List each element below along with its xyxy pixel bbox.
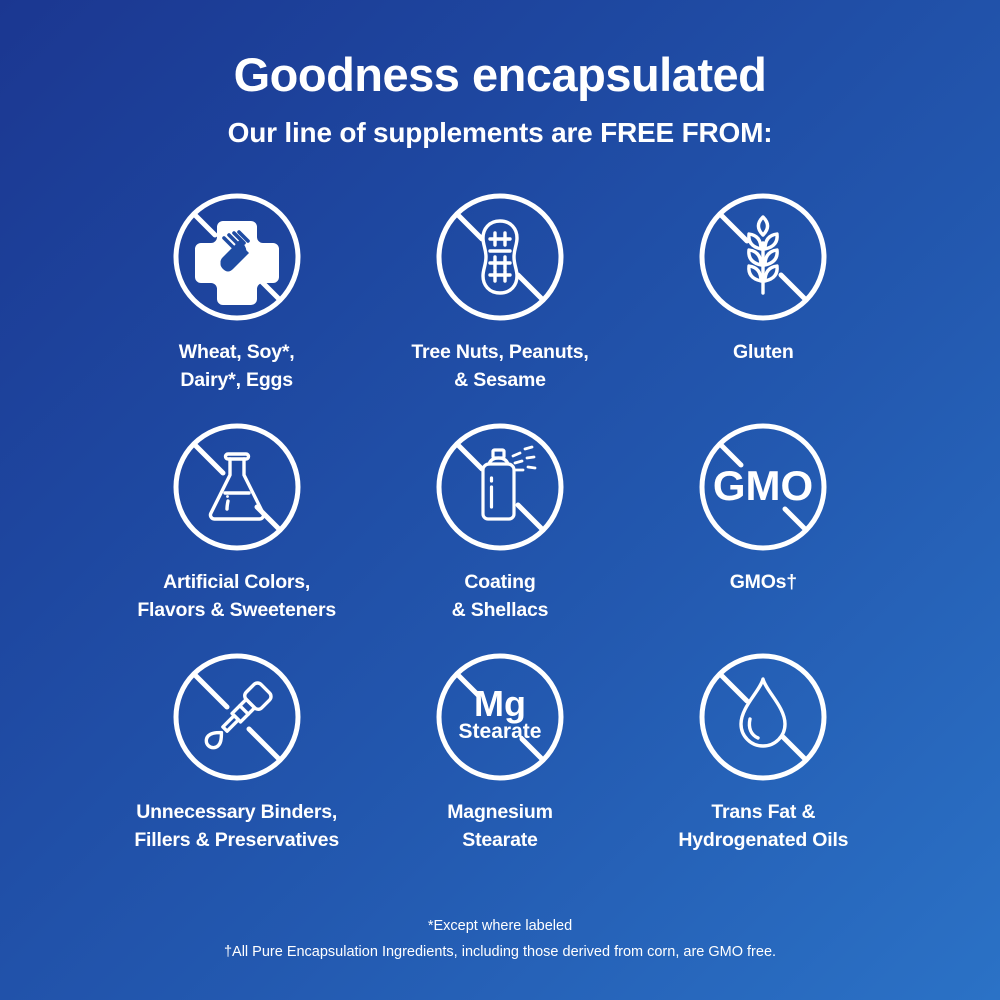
free-from-item-label: Tree Nuts, Peanuts, & Sesame (411, 339, 588, 394)
free-from-item-trans-fat: Trans Fat & Hydrogenated Oils (632, 651, 895, 881)
stearate-inner-text: Stearate (459, 720, 542, 743)
no-peanut-icon (434, 191, 566, 323)
free-from-item-gluten: Gluten (632, 191, 895, 421)
free-from-item-label: Gluten (733, 339, 794, 367)
free-from-item-artificial-colors: Artificial Colors, Flavors & Sweeteners (105, 421, 368, 651)
free-from-item-gmo: GMO GMOs† (632, 421, 895, 651)
footnote-dagger: †All Pure Encapsulation Ingredients, inc… (0, 940, 1000, 965)
free-from-item-label: Trans Fat & Hydrogenated Oils (678, 799, 848, 854)
no-spray-can-icon (434, 421, 566, 553)
free-from-item-coating: Coating & Shellacs (368, 421, 631, 651)
no-dropper-icon (171, 651, 303, 783)
footnotes: *Except where labeled †All Pure Encapsul… (0, 914, 1000, 965)
free-from-item-label: Wheat, Soy*, Dairy*, Eggs (179, 339, 295, 394)
free-from-item-magnesium-stearate: Mg Stearate Magnesium Stearate (368, 651, 631, 881)
mg-inner-text: Mg (474, 683, 526, 724)
free-from-item-label: GMOs† (730, 569, 797, 597)
no-oil-droplet-icon (697, 651, 829, 783)
free-from-item-binders: Unnecessary Binders, Fillers & Preservat… (105, 651, 368, 881)
free-from-grid: Wheat, Soy*, Dairy*, Eggs (105, 191, 895, 881)
no-gmo-icon: GMO (697, 421, 829, 553)
free-from-item-label: Magnesium Stearate (447, 799, 552, 854)
free-from-item-allergens: Wheat, Soy*, Dairy*, Eggs (105, 191, 368, 421)
free-from-item-label: Artificial Colors, Flavors & Sweeteners (137, 569, 336, 624)
free-from-item-label: Coating & Shellacs (452, 569, 549, 624)
no-magnesium-stearate-icon: Mg Stearate (434, 651, 566, 783)
free-from-infographic: Goodness encapsulated Our line of supple… (0, 0, 1000, 1000)
free-from-item-nuts: Tree Nuts, Peanuts, & Sesame (368, 191, 631, 421)
no-wheat-stalk-icon (697, 191, 829, 323)
no-cross-fork-icon (171, 191, 303, 323)
footnote-asterisk: *Except where labeled (0, 914, 1000, 939)
gmo-inner-text: GMO (713, 462, 813, 509)
no-flask-icon (171, 421, 303, 553)
page-title: Goodness encapsulated (234, 50, 767, 99)
free-from-item-label: Unnecessary Binders, Fillers & Preservat… (134, 799, 339, 854)
page-subtitle: Our line of supplements are FREE FROM: (228, 117, 773, 149)
